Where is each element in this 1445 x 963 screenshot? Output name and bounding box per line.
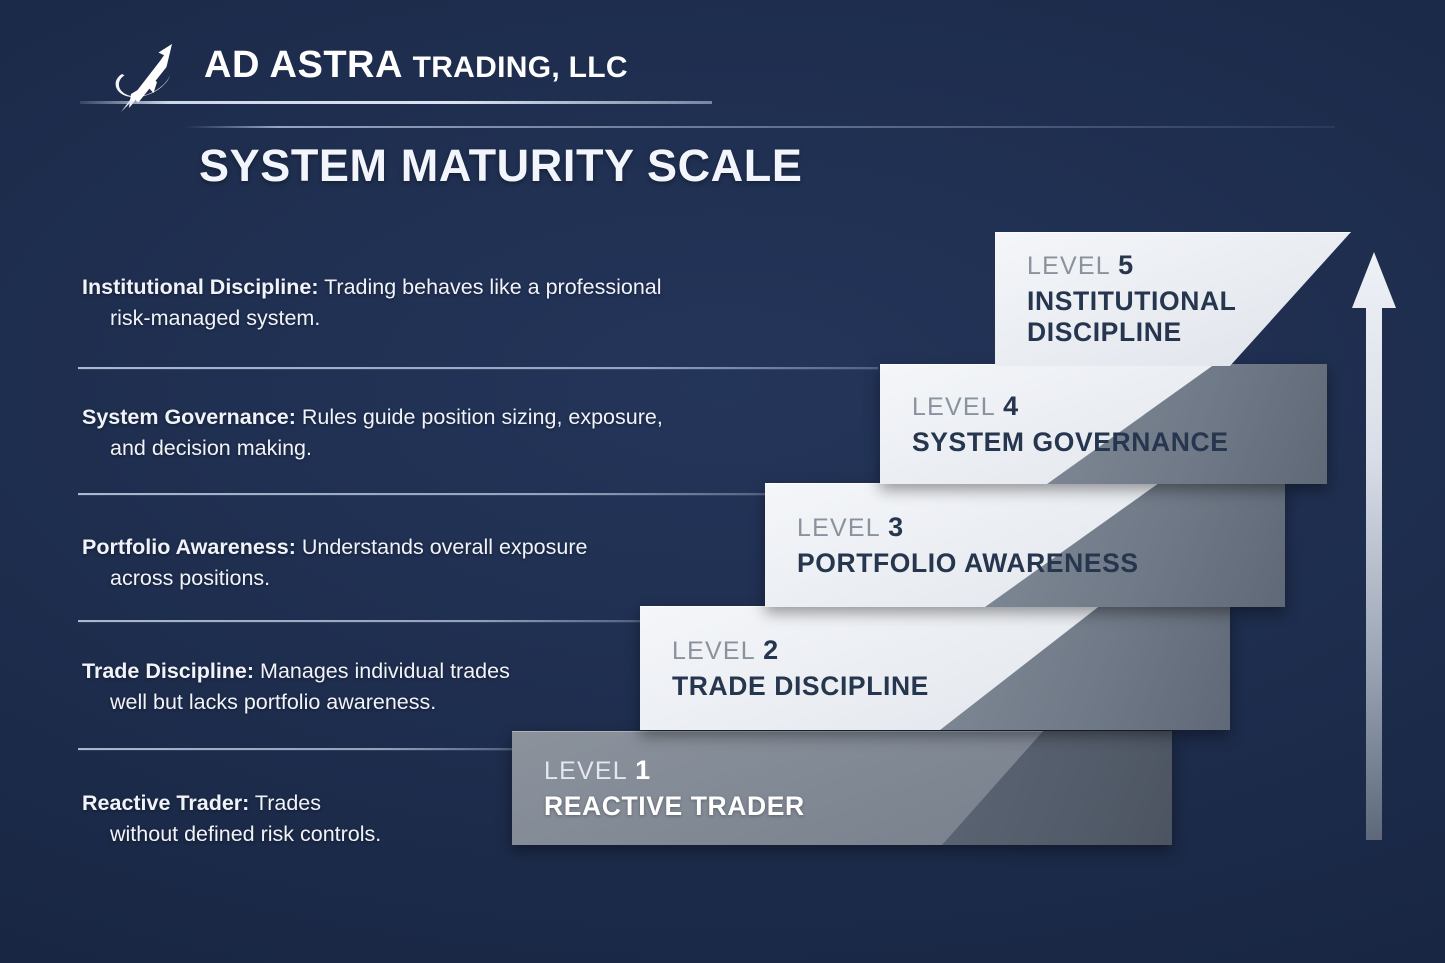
step-level-5[interactable]: LEVEL 5 INSTITUTIONAL DISCIPLINE [995, 232, 1351, 366]
level-number: 1 [635, 755, 650, 785]
step-title: INSTITUTIONAL DISCIPLINE [1027, 286, 1236, 347]
step-level-caption: LEVEL 5 [1027, 250, 1236, 281]
level-word: LEVEL [672, 637, 755, 665]
step-level-caption: LEVEL 3 [797, 512, 1139, 543]
step-level-caption: LEVEL 1 [544, 755, 805, 786]
step-title: SYSTEM GOVERNANCE [912, 427, 1228, 458]
level-word: LEVEL [544, 757, 627, 785]
step-level-1[interactable]: LEVEL 1 REACTIVE TRADER [512, 731, 1172, 845]
step-title: TRADE DISCIPLINE [672, 671, 929, 702]
step-labels: LEVEL 2 TRADE DISCIPLINE [672, 606, 929, 730]
up-arrow-icon [1352, 252, 1396, 840]
step-level-3[interactable]: LEVEL 3 PORTFOLIO AWARENESS [765, 483, 1285, 607]
step-title: PORTFOLIO AWARENESS [797, 548, 1139, 579]
step-labels: LEVEL 5 INSTITUTIONAL DISCIPLINE [1027, 232, 1236, 366]
step-labels: LEVEL 4 SYSTEM GOVERNANCE [912, 364, 1228, 484]
step-level-2[interactable]: LEVEL 2 TRADE DISCIPLINE [640, 606, 1230, 730]
level-word: LEVEL [1027, 252, 1110, 280]
maturity-staircase: LEVEL 1 REACTIVE TRADER LEVEL 2 TRADE DI… [0, 0, 1445, 963]
level-number: 4 [1003, 391, 1018, 421]
level-word: LEVEL [912, 393, 995, 421]
step-level-4[interactable]: LEVEL 4 SYSTEM GOVERNANCE [880, 364, 1327, 484]
step-level-caption: LEVEL 2 [672, 635, 929, 666]
level-number: 5 [1118, 250, 1133, 280]
level-number: 3 [888, 512, 903, 542]
step-level-caption: LEVEL 4 [912, 391, 1228, 422]
step-labels: LEVEL 1 REACTIVE TRADER [544, 731, 805, 845]
infographic-canvas: AD ASTRA TRADING, LLC SYSTEM MATURITY SC… [0, 0, 1445, 963]
level-number: 2 [763, 635, 778, 665]
step-labels: LEVEL 3 PORTFOLIO AWARENESS [797, 483, 1139, 607]
level-word: LEVEL [797, 514, 880, 542]
step-title: REACTIVE TRADER [544, 791, 805, 822]
